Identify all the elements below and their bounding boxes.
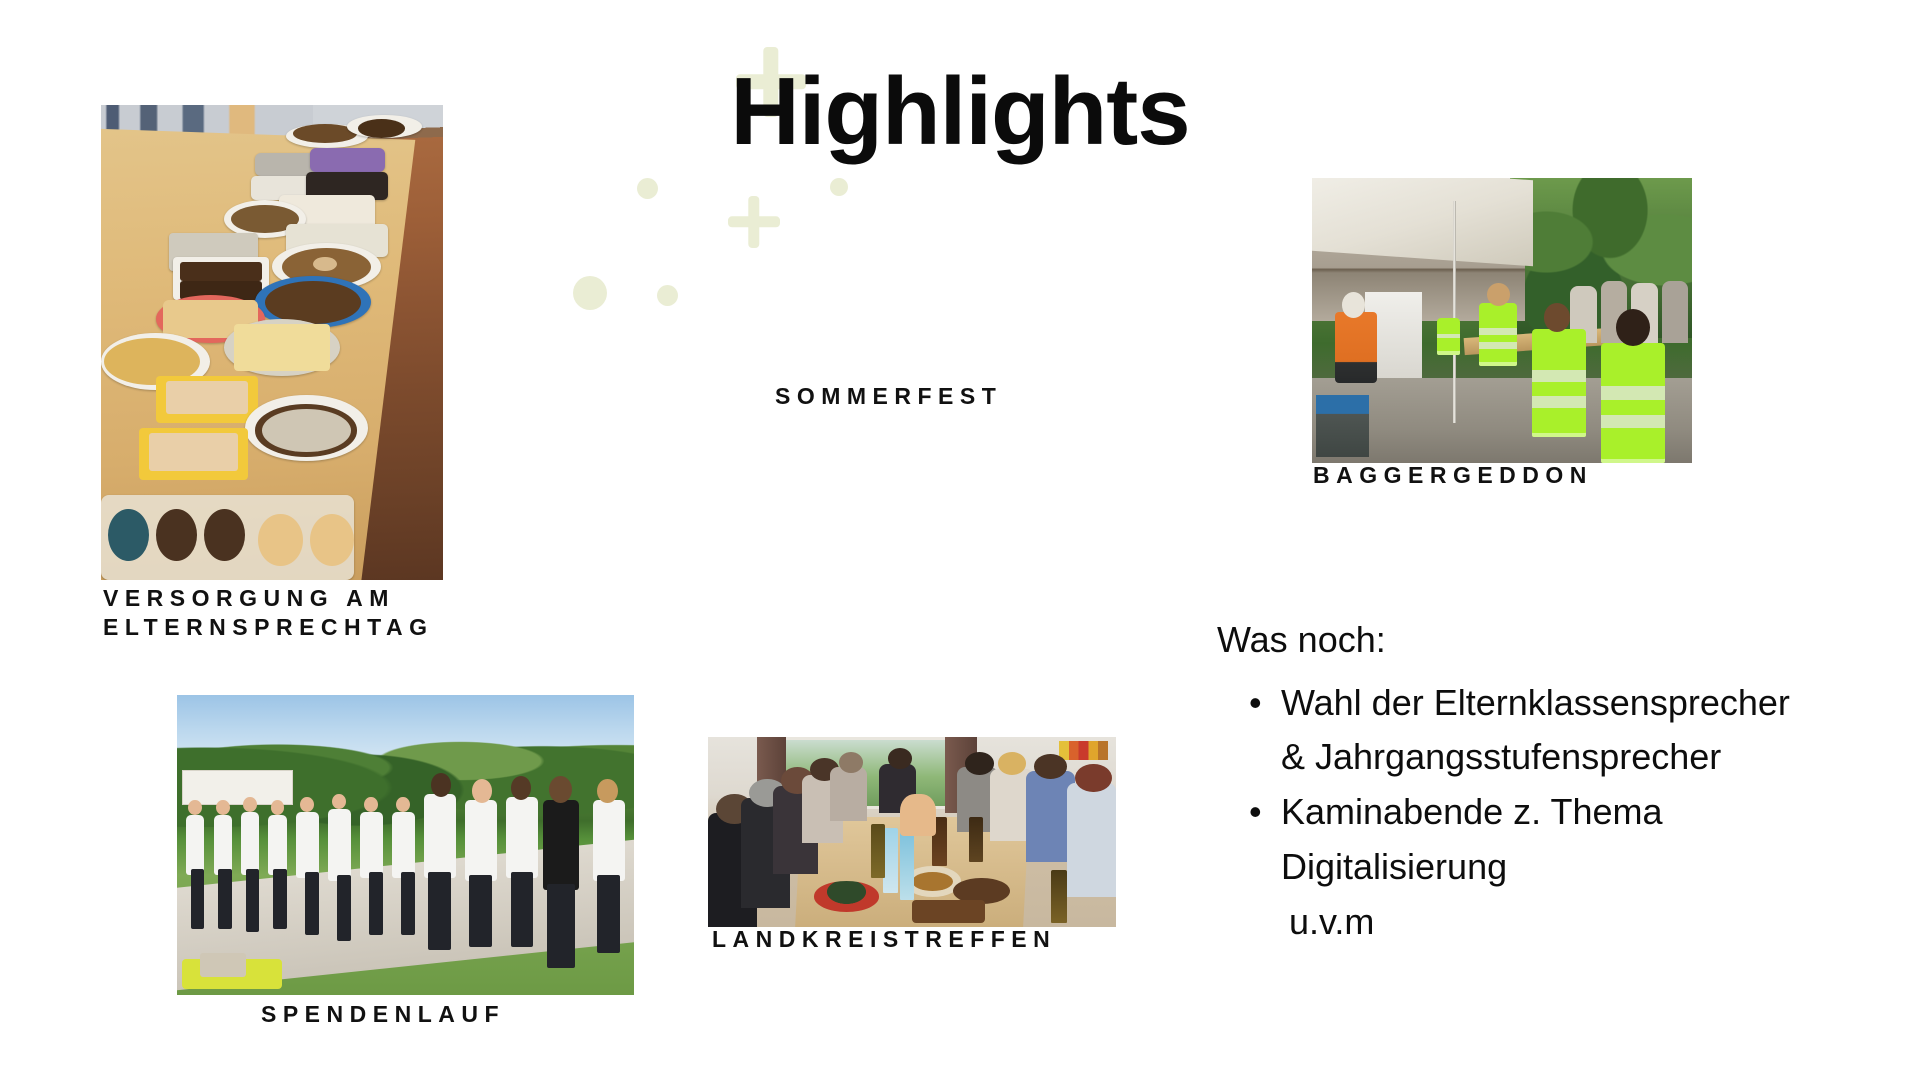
photo-baggergeddon xyxy=(1312,178,1692,463)
was-noch-footnote: u.v.m xyxy=(1217,895,1817,950)
caption-baggergeddon: BAGGERGEDDON xyxy=(1313,461,1743,490)
safety-vest xyxy=(1532,329,1585,437)
dot-decoration-4 xyxy=(657,285,678,306)
runner-figure xyxy=(465,800,497,881)
slide-title: Highlights xyxy=(0,62,1920,163)
photo-spendenlauf xyxy=(177,695,634,995)
bottle xyxy=(883,828,897,893)
runner-figure xyxy=(506,797,538,878)
runner-figure xyxy=(186,815,204,875)
bullet-glyph: • xyxy=(1249,785,1262,840)
list-item-label: Kaminabende z. Thema Digitalisierung xyxy=(1281,791,1663,887)
runner-figure xyxy=(543,800,580,890)
safety-vest xyxy=(1479,303,1517,366)
was-noch-block: Was noch: • Wahl der Elternklassensprech… xyxy=(1217,613,1817,949)
runner-figure xyxy=(424,794,456,878)
caption-spendenlauf: SPENDENLAUF xyxy=(261,1000,691,1029)
food-bowl xyxy=(814,881,879,911)
runner-figure xyxy=(328,809,351,881)
dot-decoration-3 xyxy=(573,276,607,310)
runner-figure xyxy=(241,812,259,875)
slide-canvas: Highlights xyxy=(0,0,1920,1080)
crowd-figure xyxy=(1662,281,1689,344)
runner-figure xyxy=(360,812,383,878)
plus-decoration-small xyxy=(728,196,780,248)
runner-figure xyxy=(214,815,232,875)
runner-figure xyxy=(268,815,286,875)
dot-decoration-2 xyxy=(830,178,848,196)
list-item: • Kaminabende z. Thema Digitalisierung xyxy=(1217,785,1817,894)
runner-figure xyxy=(392,812,415,878)
bottle xyxy=(900,832,914,900)
caption-versorgung-am-elternsprechtag: VERSORGUNG AM ELTERNSPRECHTAG xyxy=(103,584,533,643)
safety-vest xyxy=(1437,318,1460,355)
photo-landkreistreffen xyxy=(708,737,1116,927)
was-noch-list: • Wahl der Elternklassensprecher & Jahrg… xyxy=(1217,676,1817,895)
label-sommerfest: SOMMERFEST xyxy=(775,382,1175,411)
caption-landkreistreffen: LANDKREISTREFFEN xyxy=(712,925,1142,954)
was-noch-heading: Was noch: xyxy=(1217,613,1817,668)
bottle xyxy=(871,824,885,877)
bottle xyxy=(1051,870,1067,923)
runner-figure xyxy=(296,812,319,878)
bottle xyxy=(969,817,983,863)
safety-vest xyxy=(1601,343,1666,463)
list-item-label: Wahl der Elternklassensprecher & Jahrgan… xyxy=(1281,682,1790,778)
photo-versorgung-am-elternsprechtag xyxy=(101,105,443,580)
seated-person xyxy=(830,767,867,820)
dot-decoration-1 xyxy=(637,178,658,199)
runner-figure xyxy=(593,800,625,881)
list-item: • Wahl der Elternklassensprecher & Jahrg… xyxy=(1217,676,1817,785)
bullet-glyph: • xyxy=(1249,676,1262,731)
seated-person xyxy=(1067,783,1116,897)
